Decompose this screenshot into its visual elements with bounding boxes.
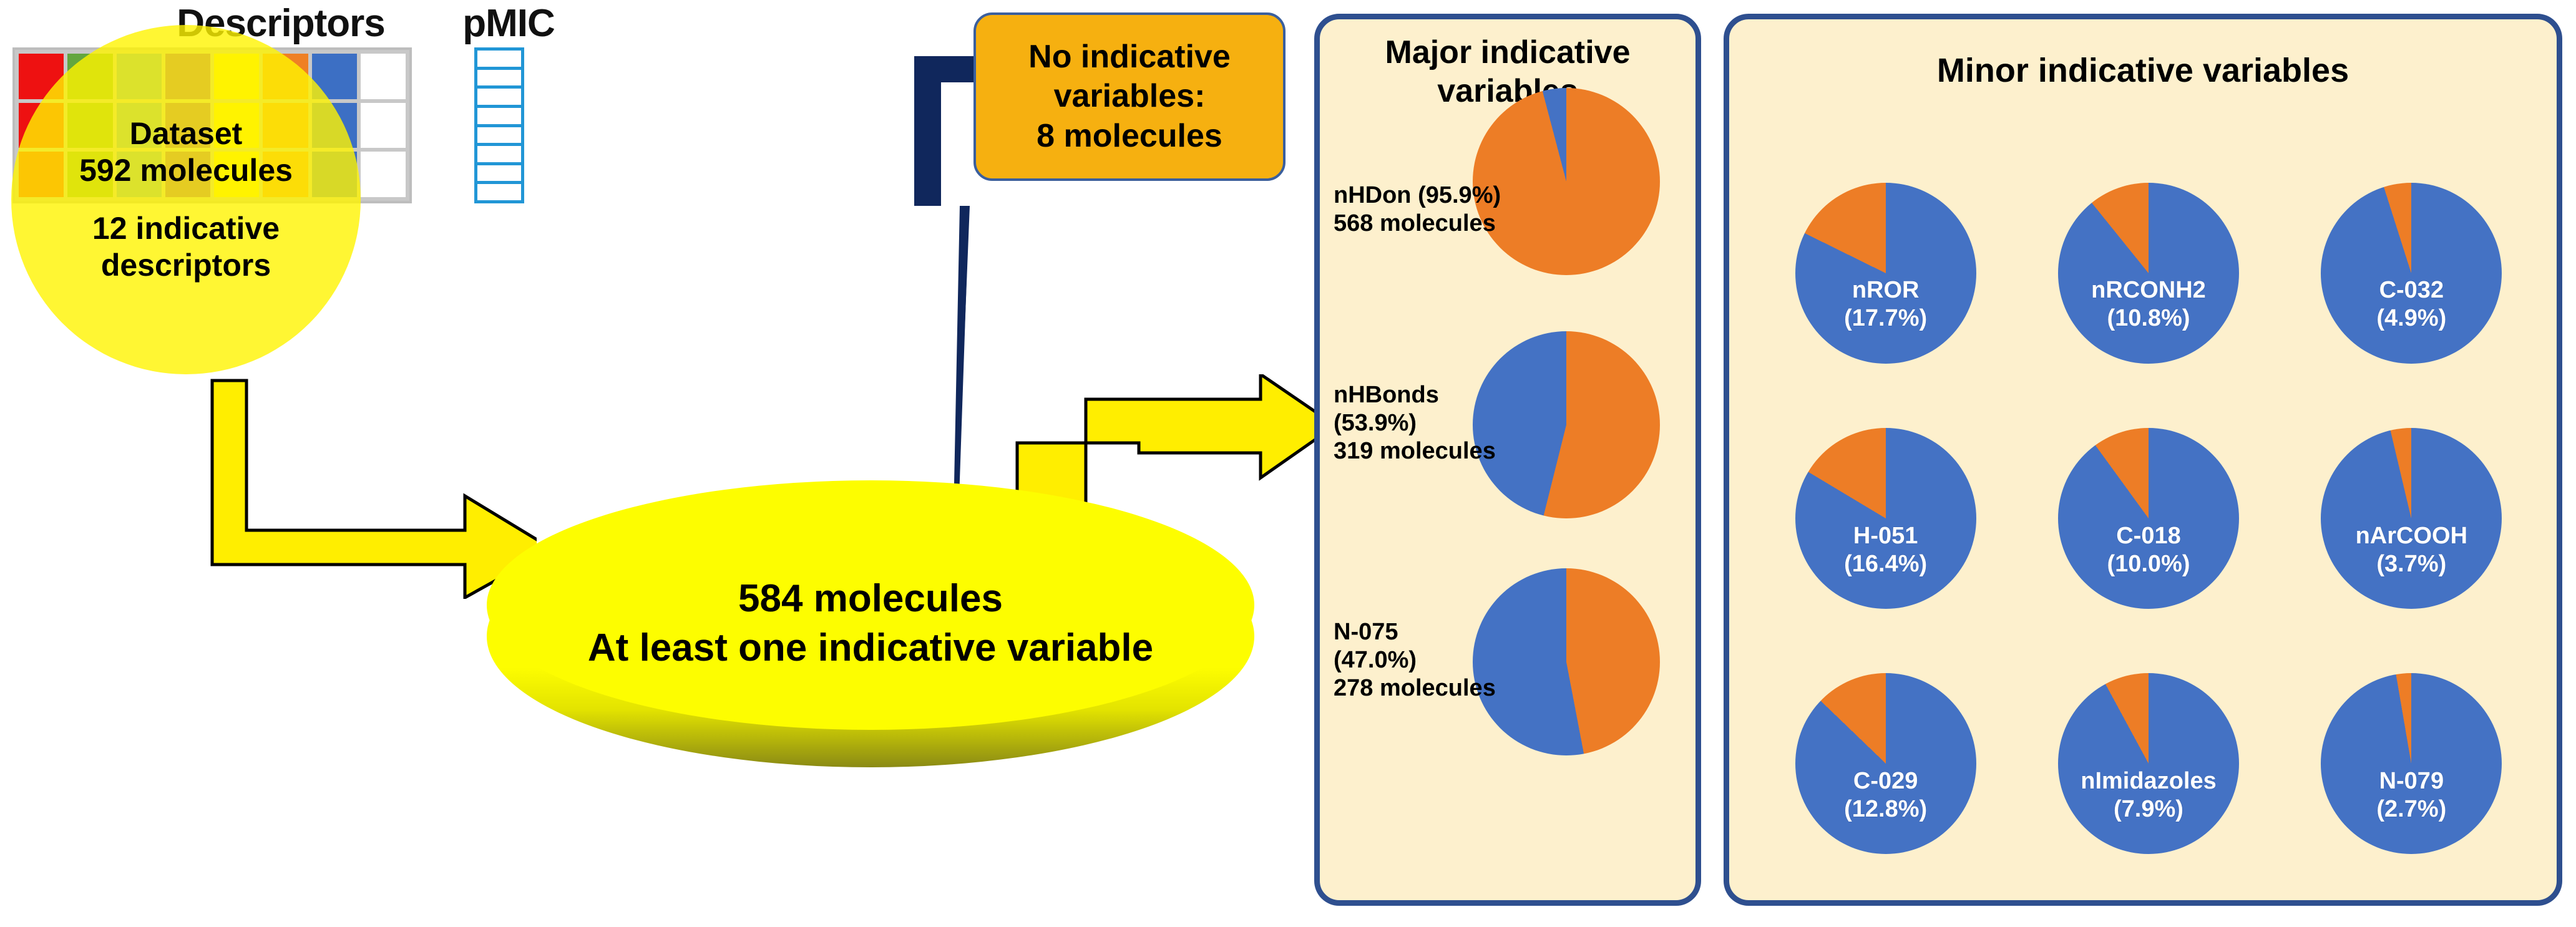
pie-chart-c-032: C-032(4.9%) — [2321, 183, 2502, 364]
pie-label-c-032: C-032(4.9%) — [2321, 276, 2502, 332]
pie-label-line: C-018 — [2058, 522, 2239, 550]
pie-label-line: N-075 — [1334, 618, 1496, 646]
pie-label-n-079: N-079(2.7%) — [2321, 767, 2502, 823]
pmic-column — [474, 47, 524, 203]
pie-label-line: (12.8%) — [1795, 795, 1976, 823]
minor-pie-item: nROR(17.7%) — [1754, 150, 2017, 396]
pie-label-line: C-029 — [1795, 767, 1976, 795]
dataset-label-line2: 592 molecules — [79, 152, 293, 189]
major-indicative-variables-panel: Major indicative variables nHDon (95.9%)… — [1314, 14, 1701, 906]
dataset-label-line4: descriptors — [101, 247, 271, 284]
no-ind-line3: 8 molecules — [1028, 117, 1231, 156]
pie-label-nrconh2: nRCONH2(10.8%) — [2058, 276, 2239, 332]
pie-label-h-051: H-051(16.4%) — [1795, 522, 1976, 578]
pmic-cell — [477, 108, 521, 124]
pie-label-line: (10.0%) — [2058, 550, 2239, 578]
major-pie-item: nHBonds(53.9%)319 molecules — [1320, 331, 1695, 568]
pie-label-line: 278 molecules — [1334, 674, 1496, 702]
pie-label-line: nHBonds — [1334, 381, 1496, 409]
minor-pie-item: C-032(4.9%) — [2280, 150, 2543, 396]
pie-label-line: (3.7%) — [2321, 550, 2502, 578]
major-title-line1: Major indicative — [1320, 33, 1695, 72]
pie-label-nror: nROR(17.7%) — [1795, 276, 1976, 332]
pie-chart-n-079: N-079(2.7%) — [2321, 673, 2502, 854]
pie-label-n-075: N-075(47.0%)278 molecules — [1334, 618, 1496, 702]
pmic-cell — [477, 127, 521, 143]
cylinder-label: 584 molecules At least one indicative va… — [487, 574, 1254, 673]
pmic-cell — [477, 89, 521, 105]
minor-panel-title: Minor indicative variables — [1729, 19, 2557, 91]
pie-chart-h-051: H-051(16.4%) — [1795, 428, 1976, 609]
cylinder-line2: At least one indicative variable — [487, 623, 1254, 672]
minor-pie-item: C-018(10.0%) — [2017, 396, 2280, 641]
pie-label-line: 319 molecules — [1334, 437, 1496, 465]
pie-label-narcooh: nArCOOH(3.7%) — [2321, 522, 2502, 578]
descriptor-cell — [361, 103, 406, 148]
dataset-label-line1: Dataset — [130, 115, 243, 152]
pie-chart-n-075 — [1473, 568, 1660, 755]
pie-chart-c-029: C-029(12.8%) — [1795, 673, 1976, 854]
descriptor-cell — [361, 54, 406, 99]
pmic-cell — [477, 165, 521, 182]
cylinder-line1: 584 molecules — [487, 574, 1254, 623]
no-indicative-variables-box: No indicative variables: 8 molecules — [973, 12, 1286, 181]
pie-label-line: (10.8%) — [2058, 304, 2239, 332]
pmic-cell — [477, 70, 521, 86]
minor-pie-item: nArCOOH(3.7%) — [2280, 396, 2543, 641]
pie-label-nhdon: nHDon (95.9%)568 molecules — [1334, 182, 1501, 238]
pie-label-line: (53.9%) — [1334, 409, 1496, 437]
pmic-title: pMIC — [437, 1, 580, 46]
pie-label-line: (16.4%) — [1795, 550, 1976, 578]
pie-label-line: (4.9%) — [2321, 304, 2502, 332]
pie-label-line: nArCOOH — [2321, 522, 2502, 550]
pie-label-line: nROR — [1795, 276, 1976, 304]
pie-label-line: (2.7%) — [2321, 795, 2502, 823]
no-ind-line2: variables: — [1028, 77, 1231, 116]
pie-label-line: N-079 — [2321, 767, 2502, 795]
pmic-cell — [477, 146, 521, 162]
pie-label-c-018: C-018(10.0%) — [2058, 522, 2239, 578]
minor-pie-grid: nROR(17.7%)nRCONH2(10.8%)C-032(4.9%)H-05… — [1754, 150, 2543, 886]
major-pie-item: N-075(47.0%)278 molecules — [1320, 568, 1695, 805]
cylinder-584-molecules: 584 molecules At least one indicative va… — [487, 480, 1254, 792]
major-pie-item: nHDon (95.9%)568 molecules — [1320, 88, 1695, 325]
descriptor-cell — [361, 152, 406, 197]
pie-label-line: nImidazoles — [2058, 767, 2239, 795]
minor-pie-item: C-029(12.8%) — [1754, 641, 2017, 886]
pmic-cell — [477, 51, 521, 67]
pie-label-nimidazoles: nImidazoles(7.9%) — [2058, 767, 2239, 823]
minor-pie-item: nImidazoles(7.9%) — [2017, 641, 2280, 886]
pie-label-line: (17.7%) — [1795, 304, 1976, 332]
pie-label-line: 568 molecules — [1334, 210, 1501, 238]
pie-label-nhbonds: nHBonds(53.9%)319 molecules — [1334, 381, 1496, 465]
pie-label-line: (7.9%) — [2058, 795, 2239, 823]
pie-label-line: nRCONH2 — [2058, 276, 2239, 304]
minor-indicative-variables-panel: Minor indicative variables nROR(17.7%)nR… — [1724, 14, 2562, 906]
pie-chart-nrconh2: nRCONH2(10.8%) — [2058, 183, 2239, 364]
pmic-cell — [477, 184, 521, 200]
pie-chart-nhbonds — [1473, 331, 1660, 518]
pie-chart-c-018: C-018(10.0%) — [2058, 428, 2239, 609]
minor-pie-item: H-051(16.4%) — [1754, 396, 2017, 641]
pie-chart-narcooh: nArCOOH(3.7%) — [2321, 428, 2502, 609]
pie-label-line: C-032 — [2321, 276, 2502, 304]
pie-label-line: H-051 — [1795, 522, 1976, 550]
minor-pie-item: N-079(2.7%) — [2280, 641, 2543, 886]
pie-label-line: (47.0%) — [1334, 646, 1496, 674]
pie-label-line: nHDon (95.9%) — [1334, 182, 1501, 210]
dataset-label-line3: 12 indicative — [92, 210, 280, 247]
pie-chart-nimidazoles: nImidazoles(7.9%) — [2058, 673, 2239, 854]
pie-label-c-029: C-029(12.8%) — [1795, 767, 1976, 823]
no-ind-line1: No indicative — [1028, 37, 1231, 77]
minor-pie-item: nRCONH2(10.8%) — [2017, 150, 2280, 396]
pie-chart-nror: nROR(17.7%) — [1795, 183, 1976, 364]
dataset-summary-circle: Dataset 592 molecules 12 indicative desc… — [11, 25, 361, 374]
